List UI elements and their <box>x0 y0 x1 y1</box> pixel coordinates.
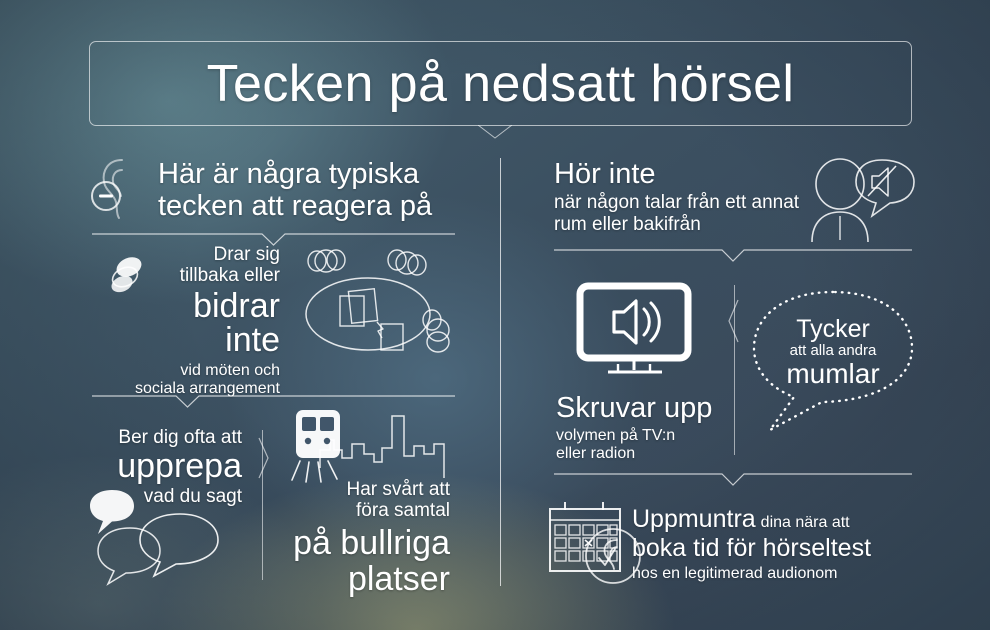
noisy-highlight-1: på bullriga <box>272 525 450 561</box>
meeting-table-icon <box>292 244 462 370</box>
title-chevron-icon <box>478 125 512 139</box>
noisy-text: Har svårt att föra samtal på bullriga pl… <box>272 479 450 597</box>
mumble-highlight: mumlar <box>748 359 918 389</box>
hear-not-highlight: Hör inte <box>554 158 824 190</box>
encourage-text: Uppmuntradina nära att boka tid för hörs… <box>632 505 922 583</box>
encourage-highlight-2: boka tid för hörseltest <box>632 534 922 563</box>
left-inner-chevron-icon <box>258 438 270 478</box>
page-title: Tecken på nedsatt hörsel <box>207 54 795 114</box>
person-muted-speech-icon <box>806 156 916 242</box>
encourage-row-1: Uppmuntradina nära att <box>632 505 922 534</box>
speech-bubbles-icon <box>84 486 224 588</box>
mumble-line-1: Tycker <box>748 316 918 343</box>
withdraw-text: Drar sig tillbaka eller bidrar inte vid … <box>120 244 280 398</box>
title-banner: Tecken på nedsatt hörsel <box>89 41 912 126</box>
volume-line-2: eller radion <box>556 445 786 463</box>
right-divider-1 <box>554 248 912 264</box>
encourage-highlight-1: Uppmuntra <box>632 505 756 533</box>
intro-line-2: tecken att reagera på <box>158 190 458 222</box>
dotted-speech-bubble-icon: Tycker att alla andra mumlar <box>748 288 918 440</box>
withdraw-highlight-2: inte <box>120 323 280 358</box>
infographic-canvas: Tecken på nedsatt hörsel Här är några ty… <box>0 0 990 630</box>
hear-not-line-2: rum eller bakifrån <box>554 214 824 235</box>
tv-speaker-icon <box>578 284 690 378</box>
repeat-line-1: Ber dig ofta att <box>72 427 242 448</box>
mumble-text: Tycker att alla andra mumlar <box>748 316 918 389</box>
hear-not-text: Hör inte när någon talar från ett annat … <box>554 158 824 235</box>
noisy-highlight-2: platser <box>272 561 450 597</box>
mumble-line-2: att alla andra <box>748 343 918 359</box>
withdraw-line-1: Drar sig <box>120 244 280 265</box>
right-inner-chevron-icon <box>728 300 740 342</box>
encourage-line-3: hos en legitimerad audionom <box>632 565 922 583</box>
noisy-line-1: Har svårt att <box>272 479 450 500</box>
ear-minus-icon <box>92 152 160 222</box>
hear-not-line-1: när någon talar från ett annat <box>554 192 824 213</box>
withdraw-line-2: tillbaka eller <box>120 265 280 286</box>
intro-line-1: Här är några typiska <box>158 158 458 190</box>
train-city-icon <box>292 406 457 484</box>
repeat-highlight: upprepa <box>72 449 242 485</box>
noisy-line-2: föra samtal <box>272 500 450 521</box>
column-divider <box>500 158 501 586</box>
withdraw-line-3: vid möten och <box>120 362 280 380</box>
withdraw-highlight-1: bidrar <box>120 289 280 324</box>
intro-text: Här är några typiska tecken att reagera … <box>158 158 458 223</box>
right-divider-2 <box>554 472 912 488</box>
encourage-inline-1: dina nära att <box>756 514 850 531</box>
